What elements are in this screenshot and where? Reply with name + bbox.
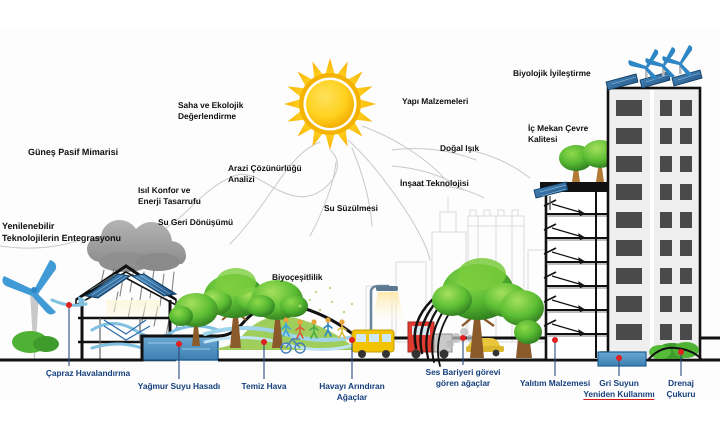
callout-label-gri-suyun-line2: Yeniden Kullanımı (583, 389, 654, 400)
high-rise-tower (606, 45, 702, 360)
concept-label-insaat-teknolojisi: İnşaat Teknolojisi (400, 178, 469, 189)
callout-label-capraz-havalandirma: Çapraz Havalandırma (46, 368, 130, 379)
concept-label-su-geri-donusumu: Su Geri Dönüşümü (158, 217, 233, 228)
callout-label-ses-bariyeri: Ses Bariyeri görevi gören ağaçlar (426, 367, 501, 389)
concept-label-arazi-cozunurlugu: Arazi Çözünürlüğü Analizi (228, 163, 302, 185)
sun-icon (284, 58, 376, 150)
callout-label-temiz-hava: Temiz Hava (242, 381, 287, 392)
concept-label-saha-ve-ekolojik: Saha ve Ekolojik Değerlendirme (178, 100, 243, 122)
concept-label-isil-konfor: Isıl Konfor ve Enerji Tasarrufu (138, 185, 201, 207)
city-bus-icon (352, 330, 394, 358)
infographic-canvas: Güneş Pasif MimarisiYenilenebilir Teknol… (0, 0, 720, 427)
callout-label-gri-suyun-line1: Gri Suyun (599, 378, 639, 388)
greywater-tank (598, 352, 646, 366)
concept-label-ic-mekan-cevre-kalitesi: İç Mekan Çevre Kalitesi (528, 123, 588, 145)
callout-label-gri-suyun: Gri SuyunYeniden Kullanımı (583, 378, 654, 400)
callout-label-yagmur-suyu-hasadi: Yağmur Suyu Hasadı (138, 381, 220, 392)
callout-label-drenaj-cukuru: Drenaj Çukuru (662, 378, 701, 400)
concept-label-yenilenebilir: Yenilenebilir Teknolojilerin Entegrasyon… (2, 220, 121, 244)
callout-label-havayi-arindiran: Havayı Arındıran Ağaçlar (319, 381, 384, 403)
concept-label-biyocesitlilik: Biyoçeşitlilik (272, 272, 323, 283)
concept-label-yapi-malzemeleri: Yapı Malzemeleri (402, 96, 468, 107)
callout-label-yalitim-malzemesi: Yalıtım Malzemesi (520, 378, 590, 389)
shrub-left (12, 331, 59, 353)
concept-label-su-suzulmesi: Su Süzülmesi (324, 203, 378, 214)
concept-label-biyolojik-iyilestirme: Biyolojik İyileştirme (513, 68, 591, 79)
concept-label-dogal-isik: Doğal Işık (440, 143, 479, 154)
concept-label-gunes-pasif-mimarisi: Güneş Pasif Mimarisi (28, 146, 118, 158)
